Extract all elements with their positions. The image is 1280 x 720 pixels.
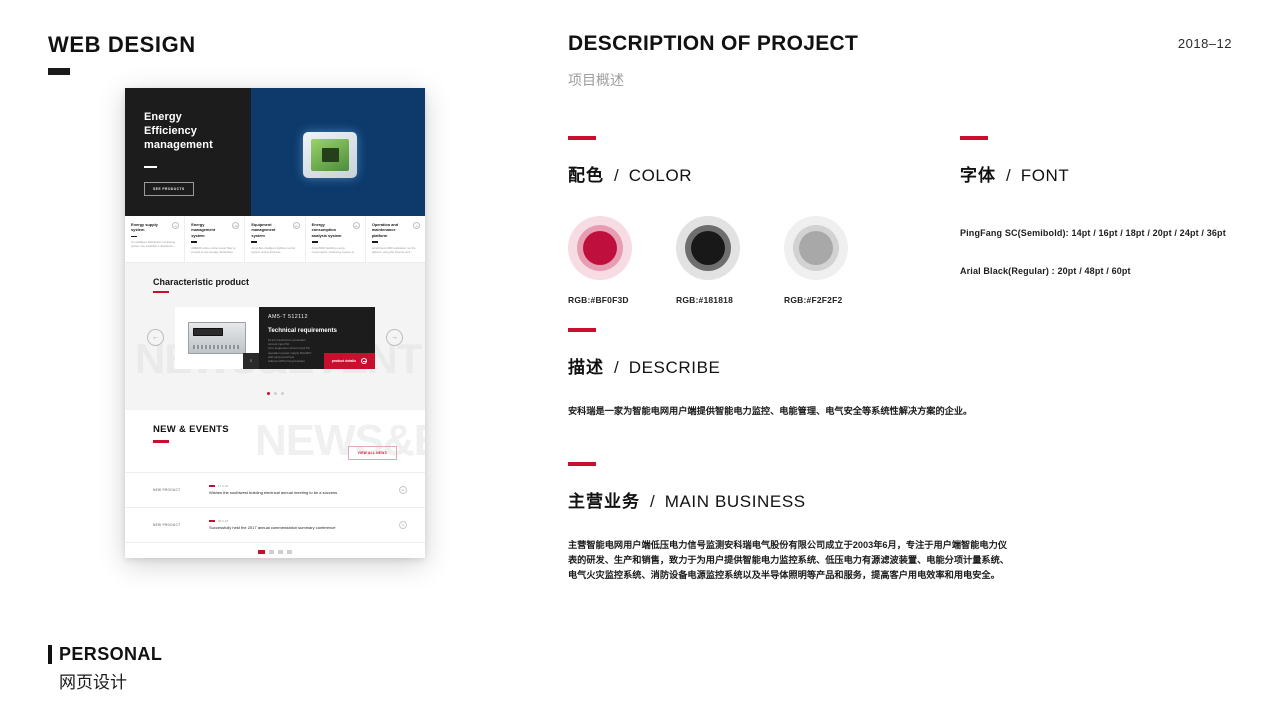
carousel-dot[interactable] bbox=[281, 392, 284, 395]
block-heading-en: COLOR bbox=[629, 166, 692, 186]
feature-desc: An intelligent distribution monitoring s… bbox=[131, 240, 178, 248]
block-heading: 配色 / COLOR bbox=[568, 161, 848, 186]
carousel-next-button[interactable]: → bbox=[386, 329, 403, 346]
feature-title: Equipment management system bbox=[251, 222, 298, 238]
see-products-button[interactable]: SEE PRODUCTS bbox=[144, 182, 194, 196]
carousel-dot[interactable] bbox=[274, 392, 277, 395]
arrow-right-icon bbox=[413, 222, 420, 229]
feature-title: Energy consumption analysis system bbox=[312, 222, 359, 238]
personal-label-cn: 网页设计 bbox=[59, 668, 162, 693]
product-details-label: product details bbox=[332, 359, 356, 363]
section-title: DESCRIPTION OF PROJECT bbox=[568, 32, 858, 56]
footer-accent-block bbox=[258, 550, 265, 554]
arrow-right-icon[interactable] bbox=[399, 486, 407, 494]
news-body: 09.3.18 Successfully held the 2017 annua… bbox=[209, 519, 399, 531]
product-title-underline bbox=[153, 291, 169, 293]
arrow-right-icon bbox=[353, 222, 360, 229]
product-details-button[interactable]: product details bbox=[324, 353, 375, 369]
news-header: NEWS&E NEW & EVENTS VIEW ALL NEWS bbox=[125, 410, 425, 472]
news-list-item[interactable]: NEW PRODUCT 17.4.18 Wishes the southwest… bbox=[125, 472, 425, 507]
feature-desc: AcrelCloud-1000 substation run the platf… bbox=[372, 246, 419, 254]
font-block: 字体 / FONT PingFang SC(Semibold): 14pt / … bbox=[960, 136, 1226, 276]
block-heading-slash: / bbox=[614, 166, 619, 186]
font-spec-line-2: Arial Black(Regular) : 20pt / 48pt / 60p… bbox=[960, 266, 1226, 276]
personal-label-group: PERSONAL 网页设计 bbox=[48, 644, 162, 693]
font-spec-line-1: PingFang SC(Semibold): 14pt / 16pt / 18p… bbox=[960, 228, 1226, 238]
hero-copy: Energy Efficiency management SEE PRODUCT… bbox=[144, 110, 264, 196]
block-heading-en: MAIN BUSINESS bbox=[665, 492, 806, 512]
arrow-right-icon bbox=[293, 222, 300, 229]
news-title: Successfully held the 2017 annual commen… bbox=[209, 525, 399, 531]
swatch-ring-mid bbox=[793, 225, 839, 271]
left-column: WEB DESIGN Energy Efficiency management … bbox=[0, 0, 520, 720]
news-footer-strip bbox=[125, 542, 425, 558]
circuit-board-image bbox=[251, 88, 425, 216]
swatch-ring-outer bbox=[676, 216, 740, 280]
block-accent-rule bbox=[568, 328, 596, 332]
feature-strip: Energy supply system An intelligent dist… bbox=[125, 216, 425, 263]
business-block: 主营业务 / MAIN BUSINESS 主营智能电网用户端低压电力信号监测安科… bbox=[568, 462, 1013, 583]
date-label: 2018–12 bbox=[1178, 36, 1232, 51]
block-accent-rule bbox=[568, 462, 596, 466]
block-accent-rule bbox=[568, 136, 596, 140]
news-body: 17.4.18 Wishes the southwest building el… bbox=[209, 484, 399, 496]
swatch-label: RGB:#BF0F3D bbox=[568, 295, 632, 305]
personal-accent-bar bbox=[48, 645, 52, 664]
news-list-item[interactable]: NEW PRODUCT 09.3.18 Successfully held th… bbox=[125, 507, 425, 542]
product-carousel: AM5-T 512112 Technical requirements 10 k… bbox=[175, 307, 375, 369]
slide-canvas: WEB DESIGN Energy Efficiency management … bbox=[0, 0, 1280, 720]
title-underline bbox=[48, 68, 70, 75]
news-tag: NEW PRODUCT bbox=[153, 523, 209, 527]
feature-title: Operation and maintenance platform bbox=[372, 222, 419, 238]
footer-block bbox=[269, 550, 274, 554]
news-meta: 09.3.18 bbox=[209, 519, 399, 523]
feature-title: Energy management system bbox=[191, 222, 238, 238]
color-block: 配色 / COLOR RGB:#BF0F3D bbox=[568, 136, 848, 305]
news-heading: NEW & EVENTS bbox=[153, 424, 229, 435]
personal-row: PERSONAL bbox=[48, 644, 162, 665]
feature-card[interactable]: Operation and maintenance platform Acrel… bbox=[366, 216, 425, 262]
arrow-right-icon bbox=[361, 358, 367, 364]
describe-body: 安科瑞是一家为智能电网用户端提供智能电力监控、电能管理、电气安全等系统性解决方案… bbox=[568, 404, 1013, 419]
swatch-ring-mid bbox=[577, 225, 623, 271]
mockup-viewport: Energy Efficiency management SEE PRODUCT… bbox=[125, 88, 425, 558]
block-heading: 字体 / FONT bbox=[960, 161, 1226, 186]
business-body: 主营智能电网用户端低压电力信号监测安科瑞电气股份有限公司成立于2003年6月，专… bbox=[568, 538, 1013, 583]
zoom-icon[interactable]: ⌕ bbox=[243, 353, 259, 369]
swatch-label: RGB:#F2F2F2 bbox=[784, 295, 848, 305]
news-heading-underline bbox=[153, 440, 169, 443]
section-subtitle: 项目概述 bbox=[568, 70, 624, 90]
news-title: Wishes the southwest building electrical… bbox=[209, 490, 399, 496]
color-swatch: RGB:#F2F2F2 bbox=[784, 216, 848, 305]
website-mockup: Energy Efficiency management SEE PRODUCT… bbox=[125, 88, 425, 558]
swatch-label: RGB:#181818 bbox=[676, 295, 740, 305]
feature-divider bbox=[312, 241, 318, 242]
block-heading: 描述 / DESCRIBE bbox=[568, 353, 1013, 378]
block-heading-cn: 字体 bbox=[960, 161, 996, 186]
news-tag: NEW PRODUCT bbox=[153, 488, 209, 492]
swatch-ring-outer bbox=[784, 216, 848, 280]
block-heading-cn: 描述 bbox=[568, 353, 604, 378]
swatch-ring-mid bbox=[685, 225, 731, 271]
feature-desc: Acrel-5000 building energy consumption m… bbox=[312, 246, 359, 254]
product-detail-card: AM5-T 512112 Technical requirements 10 k… bbox=[259, 307, 375, 369]
hero-divider bbox=[144, 166, 157, 168]
feature-card[interactable]: Equipment management system Acrel-Bus in… bbox=[245, 216, 305, 262]
personal-label-en: PERSONAL bbox=[59, 644, 162, 665]
feature-divider bbox=[372, 241, 378, 242]
feature-card[interactable]: Energy consumption analysis system Acrel… bbox=[306, 216, 366, 262]
swatch-core bbox=[691, 231, 725, 265]
describe-block: 描述 / DESCRIBE 安科瑞是一家为智能电网用户端提供智能电力监控、电能管… bbox=[568, 328, 1013, 419]
block-heading-en: DESCRIBE bbox=[629, 358, 721, 378]
right-column: DESCRIPTION OF PROJECT 项目概述 2018–12 配色 /… bbox=[520, 0, 1280, 720]
feature-divider bbox=[191, 241, 197, 242]
news-section: NEWS&E NEW & EVENTS VIEW ALL NEWS NEW PR… bbox=[125, 410, 425, 558]
block-heading-slash: / bbox=[650, 492, 655, 512]
news-date: 17.4.18 bbox=[218, 484, 228, 488]
block-heading-slash: / bbox=[1006, 166, 1011, 186]
feature-desc: Acrel-Bus intelligent lighting control s… bbox=[251, 246, 298, 254]
carousel-dots bbox=[125, 392, 425, 395]
feature-divider bbox=[131, 236, 137, 237]
color-swatch: RGB:#BF0F3D bbox=[568, 216, 632, 305]
block-heading: 主营业务 / MAIN BUSINESS bbox=[568, 487, 1013, 512]
meter-device-icon bbox=[188, 322, 246, 354]
product-section-title: Characteristic product bbox=[153, 277, 249, 287]
news-meta: 17.4.18 bbox=[209, 484, 399, 488]
characteristic-product-section: Characteristic product NEWS&EVENT ← → AM… bbox=[125, 263, 425, 410]
swatch-core bbox=[799, 231, 833, 265]
view-all-news-button[interactable]: VIEW ALL NEWS bbox=[348, 446, 397, 460]
block-heading-slash: / bbox=[614, 358, 619, 378]
page-title: WEB DESIGN bbox=[48, 32, 196, 58]
footer-block bbox=[278, 550, 283, 554]
footer-block bbox=[287, 550, 292, 554]
block-heading-cn: 主营业务 bbox=[568, 487, 640, 512]
block-accent-rule bbox=[960, 136, 988, 140]
mockup-hero: Energy Efficiency management SEE PRODUCT… bbox=[125, 88, 425, 216]
feature-title: Energy supply system bbox=[131, 222, 178, 233]
color-swatch: RGB:#181818 bbox=[676, 216, 740, 305]
feature-card[interactable]: Energy supply system An intelligent dist… bbox=[125, 216, 185, 262]
feature-card[interactable]: Energy management system AMEMS online on… bbox=[185, 216, 245, 262]
news-meta-bar bbox=[209, 520, 215, 522]
block-heading-en: FONT bbox=[1021, 166, 1070, 186]
carousel-dot[interactable] bbox=[267, 392, 270, 395]
carousel-prev-button[interactable]: ← bbox=[147, 329, 164, 346]
news-date: 09.3.18 bbox=[218, 519, 228, 523]
feature-divider bbox=[251, 241, 257, 242]
hero-heading: Energy Efficiency management bbox=[144, 110, 264, 152]
product-sku: AM5-T 512112 bbox=[268, 314, 366, 320]
swatch-core bbox=[583, 231, 617, 265]
chip-icon bbox=[303, 132, 357, 178]
arrow-right-icon[interactable] bbox=[399, 521, 407, 529]
block-heading-cn: 配色 bbox=[568, 161, 604, 186]
color-swatch-list: RGB:#BF0F3D RGB:#181818 bbox=[568, 216, 848, 305]
product-tech-title: Technical requirements bbox=[268, 327, 366, 334]
swatch-ring-outer bbox=[568, 216, 632, 280]
news-ghost-text: NEWS&E bbox=[255, 416, 425, 466]
feature-desc: AMEMS online online power filter to prov… bbox=[191, 246, 238, 254]
news-meta-bar bbox=[209, 485, 215, 487]
